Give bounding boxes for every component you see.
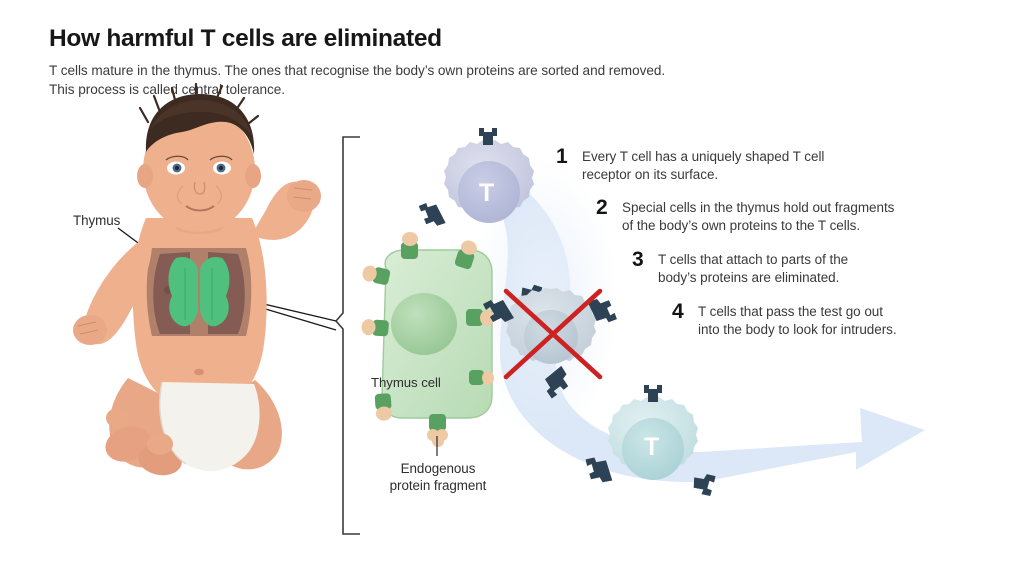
- step-text: Special cells in the thymus hold out fra…: [615, 196, 894, 235]
- thymus-bracket-icon: [336, 137, 360, 534]
- label-thymus-cell: Thymus cell: [371, 375, 441, 392]
- step-number: 2: [596, 196, 615, 221]
- step-number: 1: [556, 145, 575, 170]
- step-text: Every T cell has a uniquely shaped T cel…: [575, 145, 824, 184]
- step-item-1: 1 Every T cell has a uniquely shaped T c…: [556, 145, 968, 184]
- step-item-4: 4 T cells that pass the test go out into…: [672, 300, 968, 339]
- thymus-cell: [361, 232, 494, 456]
- label-thymus: Thymus: [73, 213, 120, 230]
- step-text: T cells that attach to parts of the body…: [651, 248, 848, 287]
- steps-list: 1 Every T cell has a uniquely shaped T c…: [556, 145, 968, 350]
- step-item-3: 3 T cells that attach to parts of the bo…: [632, 248, 968, 287]
- step-number: 4: [672, 300, 691, 325]
- step-text: T cells that pass the test go out into t…: [691, 300, 897, 339]
- label-protein-fragment: Endogenous protein fragment: [369, 461, 507, 495]
- t-cell-letter-bottom: T: [644, 433, 659, 462]
- step-item-2: 2 Special cells in the thymus hold out f…: [596, 196, 968, 235]
- t-cell-letter-top: T: [479, 179, 494, 208]
- infographic-canvas: How harmful T cells are eliminated T cel…: [0, 0, 1024, 569]
- step-number: 3: [632, 248, 651, 273]
- protein-fragment-icon: [402, 232, 418, 246]
- baby-illustration: [73, 84, 321, 479]
